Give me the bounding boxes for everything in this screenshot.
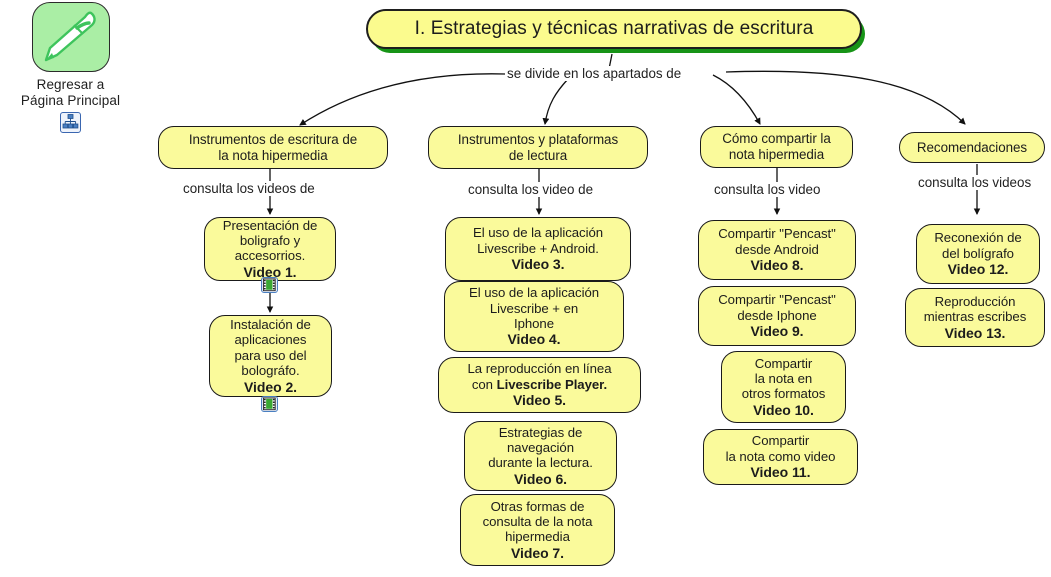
video-node-12[interactable]: Reconexión de del bolígrafoVideo 12. — [916, 224, 1040, 284]
header-node-col-2[interactable]: Instrumentos y plataformas de lectura — [428, 126, 648, 169]
root-node[interactable]: I. Estrategias y técnicas narrativas de … — [366, 9, 862, 49]
video-node-5[interactable]: La reproducción en línea con Livescribe … — [438, 357, 641, 413]
link-label-col-4: consulta los videos — [916, 175, 1033, 190]
sitemap-icon-glyph — [62, 113, 79, 130]
header-node-col-3[interactable]: Cómo compartir la nota hipermedia — [700, 126, 853, 168]
video-node-7-text: Otras formas de consulta de la nota hipe… — [483, 483, 593, 577]
concept-map-canvas: Regresar a Página Principal I. Estrategi… — [0, 0, 1051, 570]
film-strip-icon-glyph — [262, 397, 277, 411]
video-node-6[interactable]: Estrategias de navegación durante la lec… — [464, 421, 617, 491]
header-node-col-1[interactable]: Instrumentos de escritura de la nota hip… — [158, 126, 388, 169]
header-node-col-4[interactable]: Recomendaciones — [899, 132, 1045, 163]
video-node-2-text: Instalación de aplicaciones para uso del… — [230, 302, 311, 411]
link-label-col-1: consulta los videos de — [181, 181, 317, 196]
video-node-1[interactable]: Presentación de boligrafo y accesorrios.… — [204, 217, 336, 281]
return-home-button[interactable]: Regresar a Página Principal — [8, 2, 133, 133]
film-strip-icon-glyph — [262, 278, 277, 292]
video-node-12-desc: Reconexión de del bolígrafo — [934, 230, 1021, 260]
video-node-9[interactable]: Compartir "Pencast" desde IphoneVideo 9. — [698, 286, 856, 346]
video-node-10-label: Video 10. — [742, 402, 826, 419]
video-node-2-label: Video 2. — [230, 379, 311, 396]
pen-icon[interactable] — [32, 2, 110, 72]
video-node-9-label: Video 9. — [718, 323, 836, 340]
video-node-12-label: Video 12. — [934, 261, 1021, 278]
return-home-label-line1: Regresar a — [8, 77, 133, 93]
video-node-2[interactable]: Instalación de aplicaciones para uso del… — [209, 315, 332, 397]
root-branch-label: se divide en los apartados de — [505, 66, 683, 81]
header-node-col-2-text: Instrumentos y plataformas de lectura — [458, 132, 618, 163]
video-node-7-desc: Otras formas de consulta de la nota hipe… — [483, 499, 593, 545]
video-node-6-desc: Estrategias de navegación durante la lec… — [488, 425, 593, 471]
video-node-13-desc: Reproducción mientras escribes — [924, 294, 1027, 324]
video-icon-2[interactable] — [261, 396, 278, 412]
return-home-label: Regresar a Página Principal — [8, 77, 133, 109]
header-node-col-3-text: Cómo compartir la nota hipermedia — [722, 131, 831, 162]
video-node-11-desc: Compartir la nota como video — [726, 433, 836, 463]
pen-icon-glyph — [33, 3, 107, 69]
header-node-col-4-text: Recomendaciones — [917, 140, 1027, 156]
video-node-7[interactable]: Otras formas de consulta de la nota hipe… — [460, 494, 615, 566]
video-node-11-text: Compartir la nota como videoVideo 11. — [726, 418, 836, 496]
link-label-col-3: consulta los video — [712, 182, 822, 197]
video-node-1-desc: Presentación de boligrafo y accesorrios. — [223, 218, 318, 264]
video-node-5-emphasis: Livescribe Player. — [497, 377, 608, 392]
video-node-8-label: Video 8. — [718, 257, 836, 274]
video-node-3-desc: El uso de la aplicación Livescribe + And… — [473, 225, 603, 255]
video-node-4-desc: El uso de la aplicación Livescribe + en … — [469, 285, 599, 331]
header-node-col-1-text: Instrumentos de escritura de la nota hip… — [189, 132, 357, 163]
video-node-13-label: Video 13. — [924, 325, 1027, 342]
root-title: I. Estrategias y técnicas narrativas de … — [415, 18, 814, 40]
video-node-13[interactable]: Reproducción mientras escribesVideo 13. — [905, 288, 1045, 347]
video-node-11-label: Video 11. — [726, 464, 836, 481]
video-node-5-label: Video 5. — [468, 392, 612, 409]
link-label-col-2: consulta los video de — [466, 182, 595, 197]
video-icon-1[interactable] — [261, 277, 278, 293]
video-node-4[interactable]: El uso de la aplicación Livescribe + en … — [444, 281, 624, 352]
sitemap-icon[interactable] — [60, 112, 81, 133]
video-node-8[interactable]: Compartir "Pencast" desde AndroidVideo 8… — [698, 220, 856, 280]
video-node-8-desc: Compartir "Pencast" desde Android — [718, 226, 836, 256]
video-node-9-desc: Compartir "Pencast" desde Iphone — [718, 292, 836, 322]
return-home-label-line2: Página Principal — [8, 93, 133, 109]
video-node-11[interactable]: Compartir la nota como videoVideo 11. — [703, 429, 858, 485]
video-node-10-desc: Compartir la nota en otros formatos — [742, 356, 826, 402]
video-node-7-label: Video 7. — [483, 545, 593, 562]
video-node-10[interactable]: Compartir la nota en otros formatosVideo… — [721, 351, 846, 423]
video-node-2-desc: Instalación de aplicaciones para uso del… — [230, 317, 311, 378]
video-node-13-text: Reproducción mientras escribesVideo 13. — [924, 278, 1027, 356]
